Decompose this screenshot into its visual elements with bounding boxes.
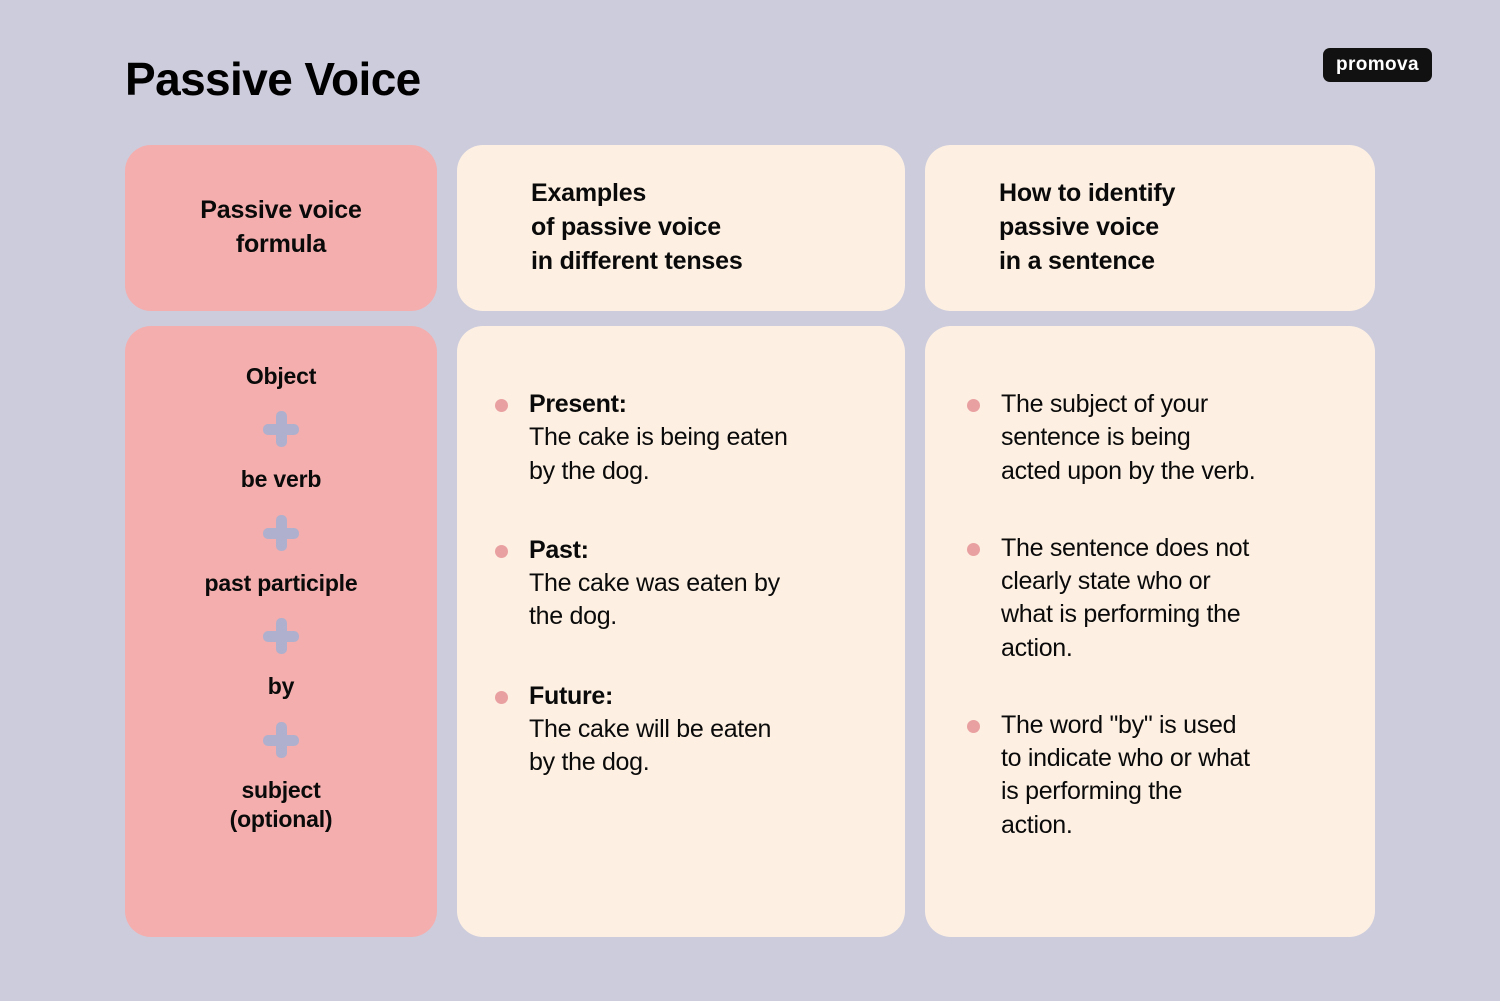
list-item-text: Past: The cake was eaten by the dog.	[529, 534, 780, 634]
bullet-dot-icon	[967, 399, 980, 412]
identify-header-title: How to identify passive voice in a sente…	[999, 177, 1175, 278]
tense-sentence: The cake will be eaten by the dog.	[529, 713, 771, 780]
tense-sentence: The cake is being eaten by the dog.	[529, 421, 788, 488]
list-item-text: The sentence does not clearly state who …	[1001, 532, 1249, 665]
tense-sentence: The cake was eaten by the dog.	[529, 567, 780, 634]
plus-icon	[263, 618, 299, 654]
list-item: The subject of your sentence is being ac…	[967, 388, 1353, 488]
formula-body-card: Object be verb past participle by subjec…	[125, 326, 437, 937]
list-item-text: Present: The cake is being eaten by the …	[529, 388, 788, 488]
examples-header-title: Examples of passive voice in different t…	[531, 177, 743, 278]
formula-term-object: Object	[246, 362, 316, 391]
identify-body-card: The subject of your sentence is being ac…	[925, 326, 1375, 937]
list-item: The word "by" is used to indicate who or…	[967, 709, 1353, 842]
identify-sentence: The word "by" is used to indicate who or…	[1001, 709, 1250, 842]
list-item: Past: The cake was eaten by the dog.	[495, 534, 875, 634]
list-item-text: Future: The cake will be eaten by the do…	[529, 680, 771, 780]
identify-header-card: How to identify passive voice in a sente…	[925, 145, 1375, 311]
examples-header-card: Examples of passive voice in different t…	[457, 145, 905, 311]
formula-term-by: by	[268, 672, 294, 701]
tense-label: Past:	[529, 534, 780, 567]
plus-icon	[263, 515, 299, 551]
bullet-dot-icon	[967, 543, 980, 556]
tense-label: Present:	[529, 388, 788, 421]
plus-icon	[263, 722, 299, 758]
tense-label: Future:	[529, 680, 771, 713]
bullet-dot-icon	[495, 399, 508, 412]
content-board: Passive voice formula Examples of passiv…	[125, 145, 1375, 937]
bullet-dot-icon	[495, 691, 508, 704]
identify-sentence: The subject of your sentence is being ac…	[1001, 388, 1255, 488]
bullet-dot-icon	[967, 720, 980, 733]
plus-icon	[263, 411, 299, 447]
list-item: Future: The cake will be eaten by the do…	[495, 680, 875, 780]
formula-header-card: Passive voice formula	[125, 145, 437, 311]
formula-header-title: Passive voice formula	[200, 194, 361, 262]
bullet-dot-icon	[495, 545, 508, 558]
identify-list: The subject of your sentence is being ac…	[925, 326, 1375, 916]
formula-term-subject: subject (optional)	[230, 776, 333, 835]
list-item: The sentence does not clearly state who …	[967, 532, 1353, 665]
formula-term-be-verb: be verb	[241, 465, 321, 494]
list-item-text: The subject of your sentence is being ac…	[1001, 388, 1255, 488]
list-item: Present: The cake is being eaten by the …	[495, 388, 875, 488]
identify-sentence: The sentence does not clearly state who …	[1001, 532, 1249, 665]
examples-list: Present: The cake is being eaten by the …	[457, 326, 905, 809]
page-title: Passive Voice	[125, 54, 421, 105]
formula-term-past-participle: past participle	[205, 569, 358, 598]
list-item-text: The word "by" is used to indicate who or…	[1001, 709, 1250, 842]
promova-logo: promova	[1323, 48, 1432, 82]
examples-body-card: Present: The cake is being eaten by the …	[457, 326, 905, 937]
